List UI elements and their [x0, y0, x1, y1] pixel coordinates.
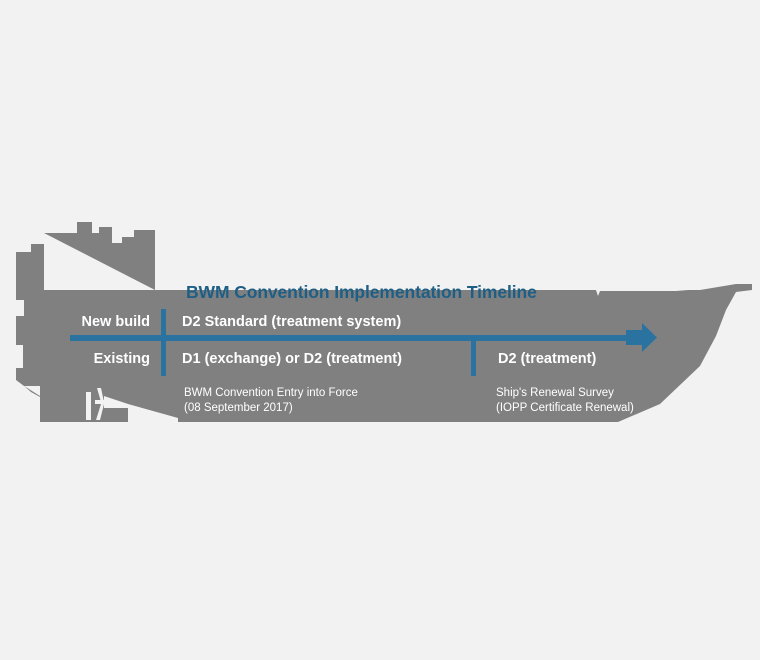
segment-existing-d2: D2 (treatment)	[498, 351, 596, 367]
milestone-renewal-survey-line2: (IOPP Certificate Renewal)	[496, 401, 634, 416]
milestone-renewal-survey: Ship's Renewal Survey (IOPP Certificate …	[496, 386, 634, 416]
milestone-entry-into-force-line1: BWM Convention Entry into Force	[184, 387, 358, 399]
segment-existing-d1-or-d2: D1 (exchange) or D2 (treatment)	[182, 351, 402, 367]
tick-entry-into-force-upper	[161, 309, 166, 335]
tick-entry-into-force-lower	[161, 340, 166, 376]
diagram-canvas: BWM Convention Implementation Timeline N…	[0, 0, 760, 660]
tick-renewal-survey	[471, 340, 476, 376]
timeline-arrow-right-icon	[624, 322, 658, 353]
row-label-existing: Existing	[10, 351, 150, 367]
timeline-overlay: BWM Convention Implementation Timeline N…	[0, 0, 760, 660]
milestone-renewal-survey-line1: Ship's Renewal Survey	[496, 387, 614, 399]
timeline-title: BWM Convention Implementation Timeline	[186, 282, 537, 303]
milestone-entry-into-force-line2: (08 September 2017)	[184, 401, 358, 416]
segment-new-build-d2-standard: D2 Standard (treatment system)	[182, 314, 401, 330]
row-label-new-build: New build	[10, 314, 150, 330]
milestone-entry-into-force: BWM Convention Entry into Force (08 Sept…	[184, 386, 358, 416]
timeline-axis-line	[70, 335, 637, 341]
